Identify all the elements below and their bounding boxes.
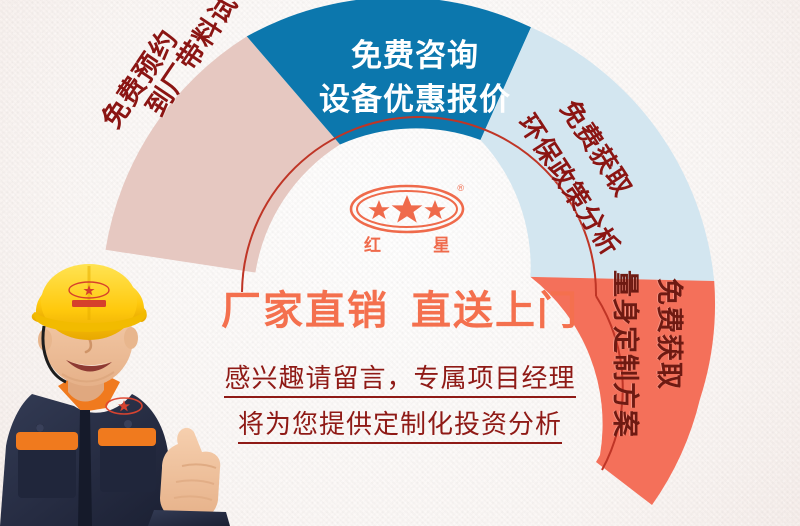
logo-char-right: 星 <box>433 231 450 256</box>
page-title: 厂家直销直送上门 <box>195 278 605 336</box>
subline-1: 感兴趣请留言，专属项目经理 <box>195 358 605 395</box>
worker-jacket-placket <box>78 410 92 526</box>
hongxing-logo: ® 红 星 <box>348 183 466 261</box>
subline-1-text: 感兴趣请留言，专属项目经理 <box>224 363 575 398</box>
segment-blue-line-2: 设备优惠报价 <box>300 78 530 122</box>
logo-char-left: 红 <box>364 231 381 256</box>
worker-pocket-flap-right <box>98 428 156 446</box>
segment-orange-line-1: 免费获取 <box>655 278 682 390</box>
logo-wordmark: 红 星 <box>348 231 466 256</box>
promo-banner: 免费预约 到厂带料试机 免费咨询 设备优惠报价 免费获取 环保政策分析 免费获取… <box>0 0 800 526</box>
worker-button-right <box>124 420 132 428</box>
registered-mark: ® <box>457 183 464 193</box>
segment-orange-line-2: 量身定制方案 <box>611 270 638 438</box>
headline-part-1: 厂家直销 <box>221 289 389 333</box>
subline-2-text: 将为您提供定制化投资分析 <box>238 409 562 444</box>
worker-sleeve-right <box>148 510 230 526</box>
worker-ear-right <box>124 327 138 349</box>
worker-button-left2 <box>36 424 44 432</box>
headline-part-2: 直送上门 <box>411 289 579 333</box>
worker-pocket-flap-left <box>16 432 78 450</box>
subline-2: 将为您提供定制化投资分析 <box>195 404 605 441</box>
segment-blue-line-1: 免费咨询 <box>300 34 530 78</box>
segment-blue-labels: 免费咨询 设备优惠报价 <box>300 34 530 122</box>
worker-thumbs-up-hand <box>160 428 220 520</box>
worker-photo <box>0 246 236 526</box>
